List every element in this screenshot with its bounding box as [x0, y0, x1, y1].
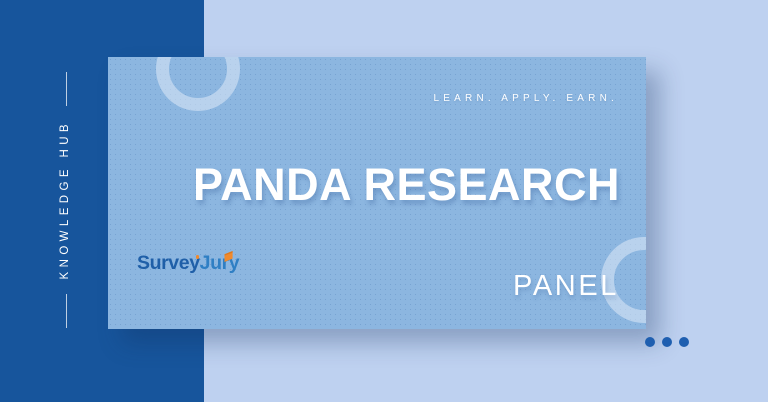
card-subtitle: PANEL: [513, 270, 619, 303]
decor-dot-3-icon: [679, 337, 689, 347]
rail-label: KNOWLEDGE HUB: [60, 120, 72, 279]
surveyjury-logo[interactable]: Survey J ury: [137, 254, 239, 274]
hero-card: LEARN. APPLY. EARN. PANDA RESEARCH PANEL…: [108, 57, 646, 329]
logo-text-survey: Survey: [137, 254, 200, 274]
logo-text-j: J: [200, 254, 210, 274]
banner-canvas: KNOWLEDGE HUB LEARN. APPLY. EARN. PANDA …: [0, 0, 768, 402]
knowledge-hub-rail: KNOWLEDGE HUB: [52, 54, 80, 346]
three-dots-decoration: [645, 337, 689, 347]
decor-dot-2-icon: [662, 337, 672, 347]
card-tagline: LEARN. APPLY. EARN.: [434, 93, 618, 104]
ring-decoration-top-left-icon: [156, 57, 240, 111]
rail-divider-bottom: [66, 294, 67, 328]
card-title: PANDA RESEARCH: [193, 159, 620, 211]
logo-orange-dot-icon: [196, 255, 200, 259]
rail-divider-top: [66, 72, 67, 106]
logo-arrow-icon: [223, 251, 234, 263]
decor-dot-1-icon: [645, 337, 655, 347]
